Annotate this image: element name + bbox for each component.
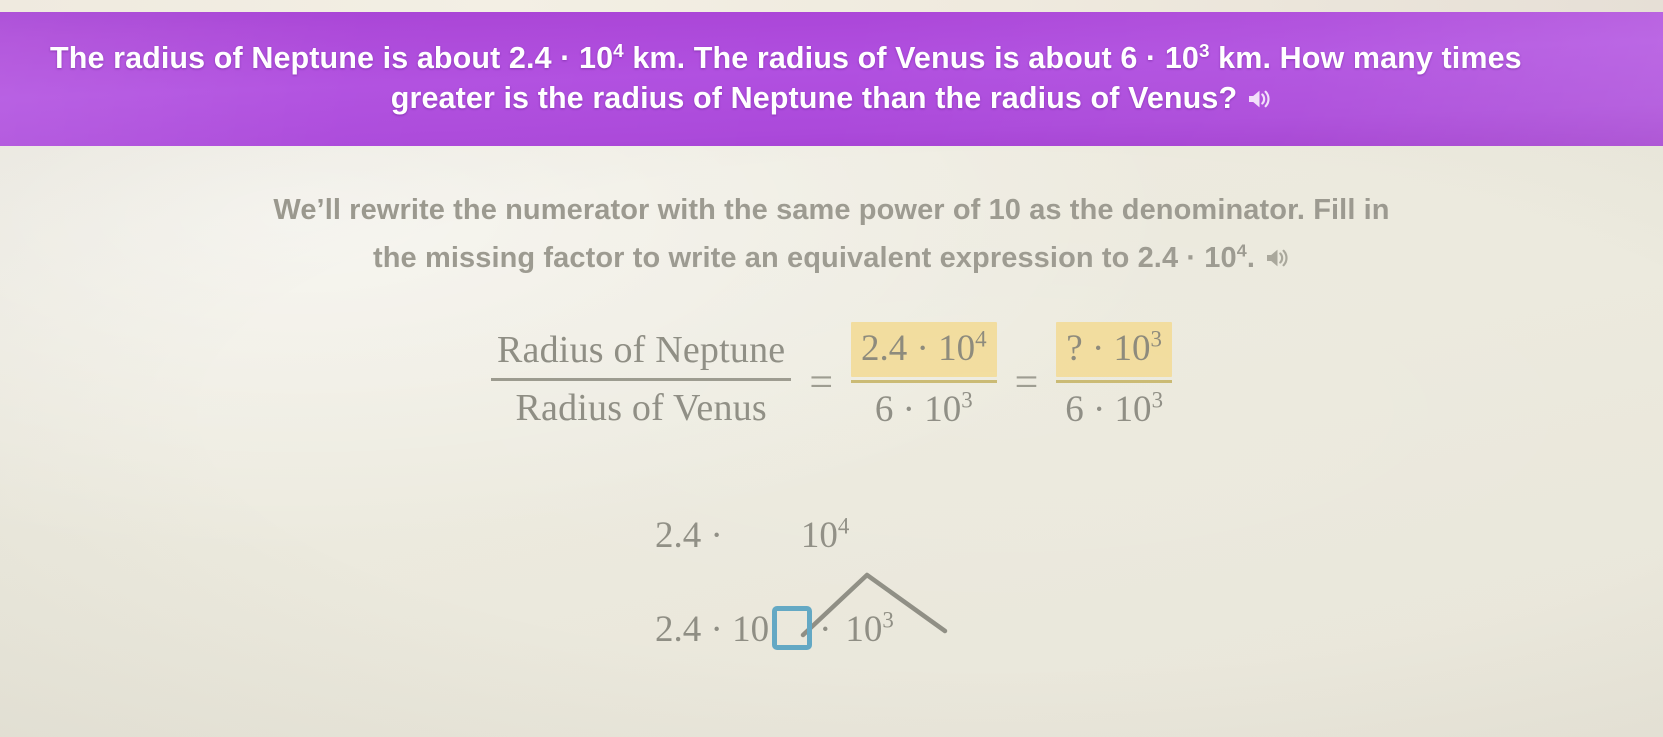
work-original-power-base: 10: [801, 515, 838, 556]
equals-sign-2: =: [1015, 362, 1039, 404]
work-rewritten-dot: ·: [819, 609, 831, 650]
work-rewritten-exponent: 3: [882, 608, 893, 633]
rewrite-work-area: 2.4 ·104 2.4 · 10·103: [0, 514, 1663, 734]
question-line-1-part-b: km. The radius of Venus is about 6 · 10: [624, 41, 1199, 75]
fraction-words: Radius of Neptune Radius of Venus: [491, 325, 791, 433]
fraction-values-numerator-mantissa: 2.4 · 10: [861, 328, 975, 369]
question-line-2: greater is the radius of Neptune than th…: [0, 78, 1663, 119]
speaker-icon[interactable]: [1246, 87, 1272, 111]
instruction-text: We’ll rewrite the numerator with the sam…: [0, 186, 1663, 282]
fraction-answer-numerator: ? · 103: [1056, 322, 1172, 377]
question-line-1-part-c: km. How many times: [1210, 41, 1522, 75]
equals-sign-1: =: [809, 362, 833, 404]
work-rewritten-base: 10: [845, 609, 882, 650]
work-original-power-exponent: 4: [838, 514, 849, 539]
work-rewritten-prefix: 2.4 · 10: [655, 609, 769, 650]
fraction-answer-numerator-mantissa: ? · 10: [1066, 328, 1150, 369]
ratio-equation: Radius of Neptune Radius of Venus = 2.4 …: [0, 322, 1663, 435]
fraction-words-denominator: Radius of Venus: [491, 383, 791, 433]
speaker-icon-instruction[interactable]: [1264, 246, 1290, 270]
fraction-values-bar: [851, 380, 997, 383]
question-exponent-neptune: 4: [613, 41, 624, 62]
instruction-line-2-part-b: .: [1247, 242, 1255, 274]
work-original-mantissa: 2.4 ·: [655, 515, 723, 556]
fraction-words-bar: [491, 378, 791, 381]
fraction-values-numerator: 2.4 · 104: [851, 322, 997, 377]
question-banner: The radius of Neptune is about 2.4 · 104…: [0, 12, 1663, 146]
fraction-values-denominator-mantissa: 6 · 10: [875, 389, 961, 430]
question-line-1-part-a: The radius of Neptune is about 2.4 · 10: [50, 41, 613, 75]
fraction-answer-denominator-exponent: 3: [1152, 388, 1163, 413]
screen-top-edge: [0, 0, 1663, 12]
fraction-answer: ? · 103 6 · 103: [1056, 322, 1172, 435]
work-line-original: 2.4 ·104: [655, 514, 849, 557]
highlight-numerator-answer: ? · 103: [1056, 322, 1172, 377]
question-line-2-text: greater is the radius of Neptune than th…: [391, 81, 1237, 115]
fraction-values: 2.4 · 104 6 · 103: [851, 322, 997, 435]
instruction-line-2: the missing factor to write an equivalen…: [0, 234, 1663, 282]
fraction-answer-bar: [1056, 380, 1172, 383]
instruction-line-1: We’ll rewrite the numerator with the sam…: [0, 186, 1663, 234]
fraction-answer-numerator-exponent: 3: [1151, 327, 1162, 352]
answer-input-box[interactable]: [772, 606, 812, 650]
exercise-body: We’ll rewrite the numerator with the sam…: [0, 146, 1663, 737]
fraction-words-numerator: Radius of Neptune: [491, 325, 791, 375]
instruction-line-2-part-a: the missing factor to write an equivalen…: [373, 242, 1237, 274]
fraction-values-denominator-exponent: 3: [961, 388, 972, 413]
fraction-values-numerator-exponent: 4: [975, 327, 986, 352]
work-line-rewritten: 2.4 · 10·103: [655, 606, 894, 651]
highlight-numerator-values: 2.4 · 104: [851, 322, 997, 377]
question-exponent-venus: 3: [1199, 41, 1210, 62]
fraction-values-denominator: 6 · 103: [851, 385, 997, 435]
fraction-answer-denominator-mantissa: 6 · 10: [1065, 389, 1151, 430]
instruction-exponent: 4: [1237, 240, 1247, 260]
question-line-1: The radius of Neptune is about 2.4 · 104…: [50, 38, 1663, 79]
fraction-answer-denominator: 6 · 103: [1056, 385, 1172, 435]
